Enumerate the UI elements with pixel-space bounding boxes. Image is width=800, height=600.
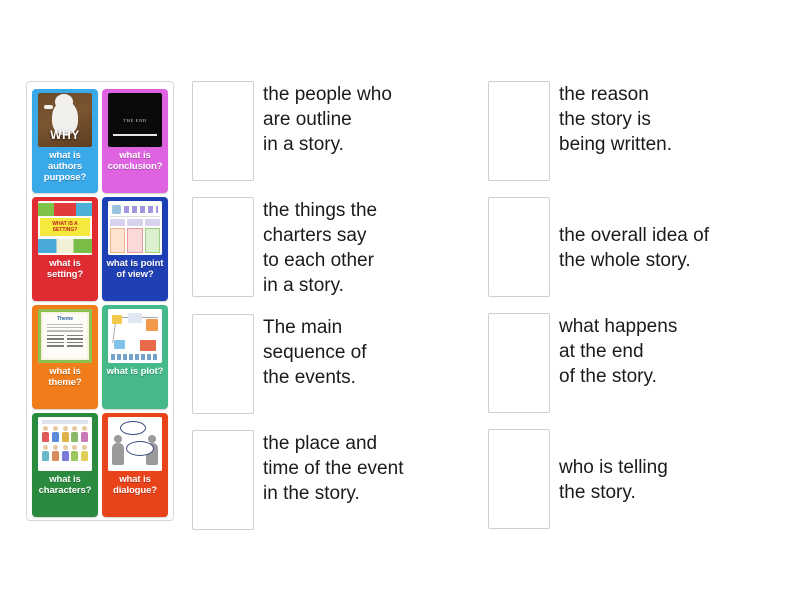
the-end-text: THE END [123, 118, 146, 123]
answer-row: the place and time of the event in the s… [192, 430, 472, 530]
answers-column-left: the people who are outline in a story. t… [192, 81, 472, 546]
tile-image-dialogue [108, 417, 162, 471]
answer-text: the reason the story is being written. [559, 81, 672, 157]
tile-label: what is characters? [34, 474, 96, 496]
answer-row: the reason the story is being written. [488, 81, 780, 181]
setting-poster-text: WHAT IS A SETTING? [40, 221, 90, 233]
answer-row: The main sequence of the events. [192, 314, 472, 414]
tile-label: what is plot? [106, 366, 165, 377]
match-up-activity: WHY what is authors purpose? THE END wha… [0, 0, 800, 600]
tile-image-pov-chart [108, 201, 162, 255]
tile-conclusion[interactable]: THE END what is conclusion? [102, 89, 168, 193]
tile-image-setting-poster: WHAT IS A SETTING? [38, 201, 92, 255]
tile-image-plot-diagram [108, 309, 162, 363]
tile-point-of-view[interactable]: what is point of view? [102, 197, 168, 301]
answer-text: the overall idea of the whole story. [559, 197, 709, 273]
answer-text: the place and time of the event in the s… [263, 430, 403, 506]
answer-text: what happens at the end of the story. [559, 313, 677, 389]
dropzone[interactable] [488, 81, 550, 181]
tile-label: what is dialogue? [104, 474, 166, 496]
dropzone[interactable] [488, 313, 550, 413]
tile-dialogue[interactable]: what is dialogue? [102, 413, 168, 517]
tile-label: what is conclusion? [104, 150, 166, 172]
answer-row: what happens at the end of the story. [488, 313, 780, 413]
answer-text: the things the charters say to each othe… [263, 197, 377, 298]
tile-image-theme-poster: Theme [38, 309, 92, 363]
tile-plot[interactable]: what is plot? [102, 305, 168, 409]
answer-row: the people who are outline in a story. [192, 81, 472, 181]
tile-theme[interactable]: Theme what is theme? [32, 305, 98, 409]
answers-column-right: the reason the story is being written. t… [488, 81, 780, 545]
tile-setting[interactable]: WHAT IS A SETTING? what is setting? [32, 197, 98, 301]
answer-row: who is telling the story. [488, 429, 780, 529]
dropzone[interactable] [192, 81, 254, 181]
tiles-grid: WHY what is authors purpose? THE END wha… [27, 86, 173, 520]
tile-authors-purpose[interactable]: WHY what is authors purpose? [32, 89, 98, 193]
dropzone[interactable] [488, 429, 550, 529]
answer-row: the overall idea of the whole story. [488, 197, 780, 297]
tile-image-why-cat: WHY [38, 93, 92, 147]
draggable-tiles-tray: WHY what is authors purpose? THE END wha… [26, 81, 174, 521]
tile-label: what is setting? [34, 258, 96, 280]
tile-label: what is point of view? [104, 258, 166, 280]
dropzone[interactable] [192, 430, 254, 530]
why-overlay-text: WHY [38, 128, 92, 142]
answer-row: the things the charters say to each othe… [192, 197, 472, 298]
tile-image-the-end: THE END [108, 93, 162, 147]
dropzone[interactable] [488, 197, 550, 297]
dropzone[interactable] [192, 314, 254, 414]
tile-label: what is theme? [34, 366, 96, 388]
dropzone[interactable] [192, 197, 254, 297]
tile-characters[interactable]: what is characters? [32, 413, 98, 517]
answer-text: who is telling the story. [559, 429, 668, 505]
tile-label: what is authors purpose? [34, 150, 96, 183]
theme-poster-title: Theme [43, 316, 87, 322]
tile-image-characters-grid [38, 417, 92, 471]
answer-text: The main sequence of the events. [263, 314, 367, 390]
answer-text: the people who are outline in a story. [263, 81, 392, 157]
